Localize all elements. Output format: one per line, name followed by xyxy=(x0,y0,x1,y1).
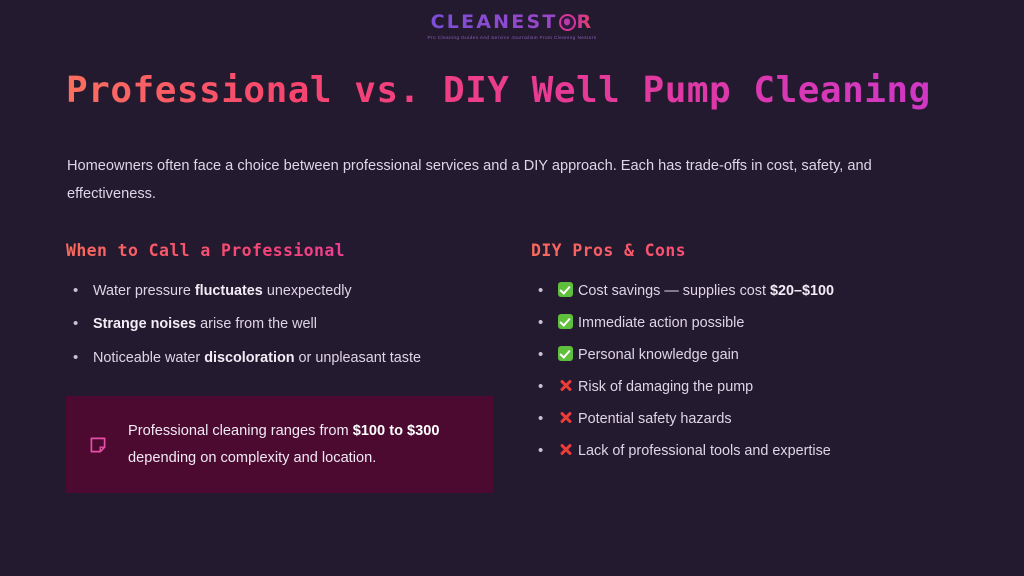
right-column-bullet-list: Cost savings — supplies cost $20–$100Imm… xyxy=(531,282,971,461)
cross-mark-icon xyxy=(558,410,573,425)
page-title: Professional vs. DIY Well Pump Cleaning xyxy=(66,68,931,114)
brand-logo[interactable]: CLEANEST R Pro Cleaning Guides And Servi… xyxy=(0,12,1024,40)
list-item: Potential safety hazards xyxy=(531,410,971,429)
list-item: Lack of professional tools and expertise xyxy=(531,442,971,461)
right-column-heading: DIY Pros & Cons xyxy=(531,240,971,262)
pump-droplet-icon xyxy=(559,14,576,31)
cross-mark-icon xyxy=(558,442,573,457)
check-mark-icon xyxy=(558,314,573,329)
left-column-bullet-list: Water pressure fluctuates unexpectedlySt… xyxy=(66,282,496,368)
list-item: Noticeable water discoloration or unplea… xyxy=(66,349,496,368)
check-mark-icon xyxy=(558,282,573,297)
brand-logo-text-secondary: R xyxy=(577,12,594,32)
cross-mark-icon xyxy=(558,378,573,393)
price-callout-box: Professional cleaning ranges from $100 t… xyxy=(66,396,493,493)
list-item: Personal knowledge gain xyxy=(531,346,971,365)
left-column-heading: When to Call a Professional xyxy=(66,240,496,262)
list-item: Strange noises arise from the well xyxy=(66,315,496,334)
check-mark-icon xyxy=(558,346,573,361)
price-callout-text: Professional cleaning ranges from $100 t… xyxy=(128,418,471,472)
page-intro-paragraph: Homeowners often face a choice between p… xyxy=(67,152,929,208)
left-column: When to Call a Professional Water pressu… xyxy=(66,240,496,382)
brand-logo-wordmark: CLEANEST R xyxy=(431,12,594,32)
list-item: Immediate action possible xyxy=(531,314,971,333)
brand-tagline: Pro Cleaning Guides And Service Journali… xyxy=(428,35,597,40)
list-item: Risk of damaging the pump xyxy=(531,378,971,397)
brand-logo-text-primary: CLEANEST xyxy=(431,12,558,32)
list-item: Water pressure fluctuates unexpectedly xyxy=(66,282,496,301)
list-item: Cost savings — supplies cost $20–$100 xyxy=(531,282,971,301)
right-column: DIY Pros & Cons Cost savings — supplies … xyxy=(531,240,971,474)
sticky-note-icon xyxy=(90,437,106,453)
